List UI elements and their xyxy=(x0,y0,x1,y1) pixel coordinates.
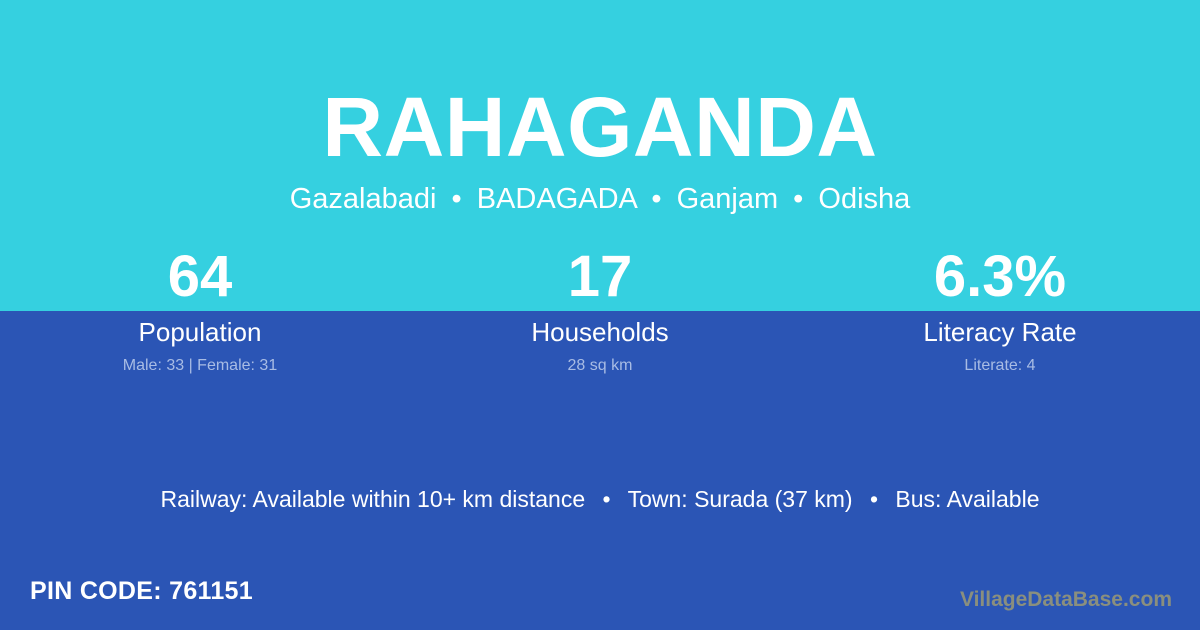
stat-population: 64 Population Male: 33 | Female: 31 xyxy=(0,244,400,376)
village-info-card: RAHAGANDA Gazalabadi • BADAGADA • Ganjam… xyxy=(0,0,1200,630)
stat-value-population: 64 xyxy=(0,244,400,310)
stat-sub-households: 28 sq km xyxy=(400,356,800,376)
stat-literacy-rate: 6.3% Literacy Rate Literate: 4 xyxy=(800,244,1200,376)
stat-value-literacy-rate: 6.3% xyxy=(800,244,1200,310)
stat-label-households: Households xyxy=(400,317,800,347)
transport-info: Railway: Available within 10+ km distanc… xyxy=(0,484,1200,514)
breadcrumb-separator: • xyxy=(445,183,469,215)
transport-bus: Bus: Available xyxy=(895,486,1039,512)
site-brand: VillageDataBase.com xyxy=(960,587,1172,613)
breadcrumb-block: BADAGADA xyxy=(477,183,637,215)
transport-separator: • xyxy=(592,486,622,512)
stat-sub-population: Male: 33 | Female: 31 xyxy=(0,356,400,376)
breadcrumb: Gazalabadi • BADAGADA • Ganjam • Odisha xyxy=(0,181,1200,218)
stat-sub-literacy-rate: Literate: 4 xyxy=(800,356,1200,376)
transport-railway: Railway: Available within 10+ km distanc… xyxy=(160,486,585,512)
page-title: RAHAGANDA xyxy=(0,78,1200,176)
pin-code: PIN CODE: 761151 xyxy=(30,575,253,607)
stat-value-households: 17 xyxy=(400,244,800,310)
breadcrumb-district: Ganjam xyxy=(677,183,779,215)
transport-town: Town: Surada (37 km) xyxy=(628,486,853,512)
stat-label-literacy-rate: Literacy Rate xyxy=(800,317,1200,347)
stats-row: 64 Population Male: 33 | Female: 31 17 H… xyxy=(0,244,1200,376)
stat-label-population: Population xyxy=(0,317,400,347)
breadcrumb-separator: • xyxy=(644,183,668,215)
breadcrumb-state: Odisha xyxy=(818,183,910,215)
breadcrumb-separator: • xyxy=(786,183,810,215)
breadcrumb-panchayat: Gazalabadi xyxy=(290,183,437,215)
stat-households: 17 Households 28 sq km xyxy=(400,244,800,376)
transport-separator: • xyxy=(859,486,889,512)
